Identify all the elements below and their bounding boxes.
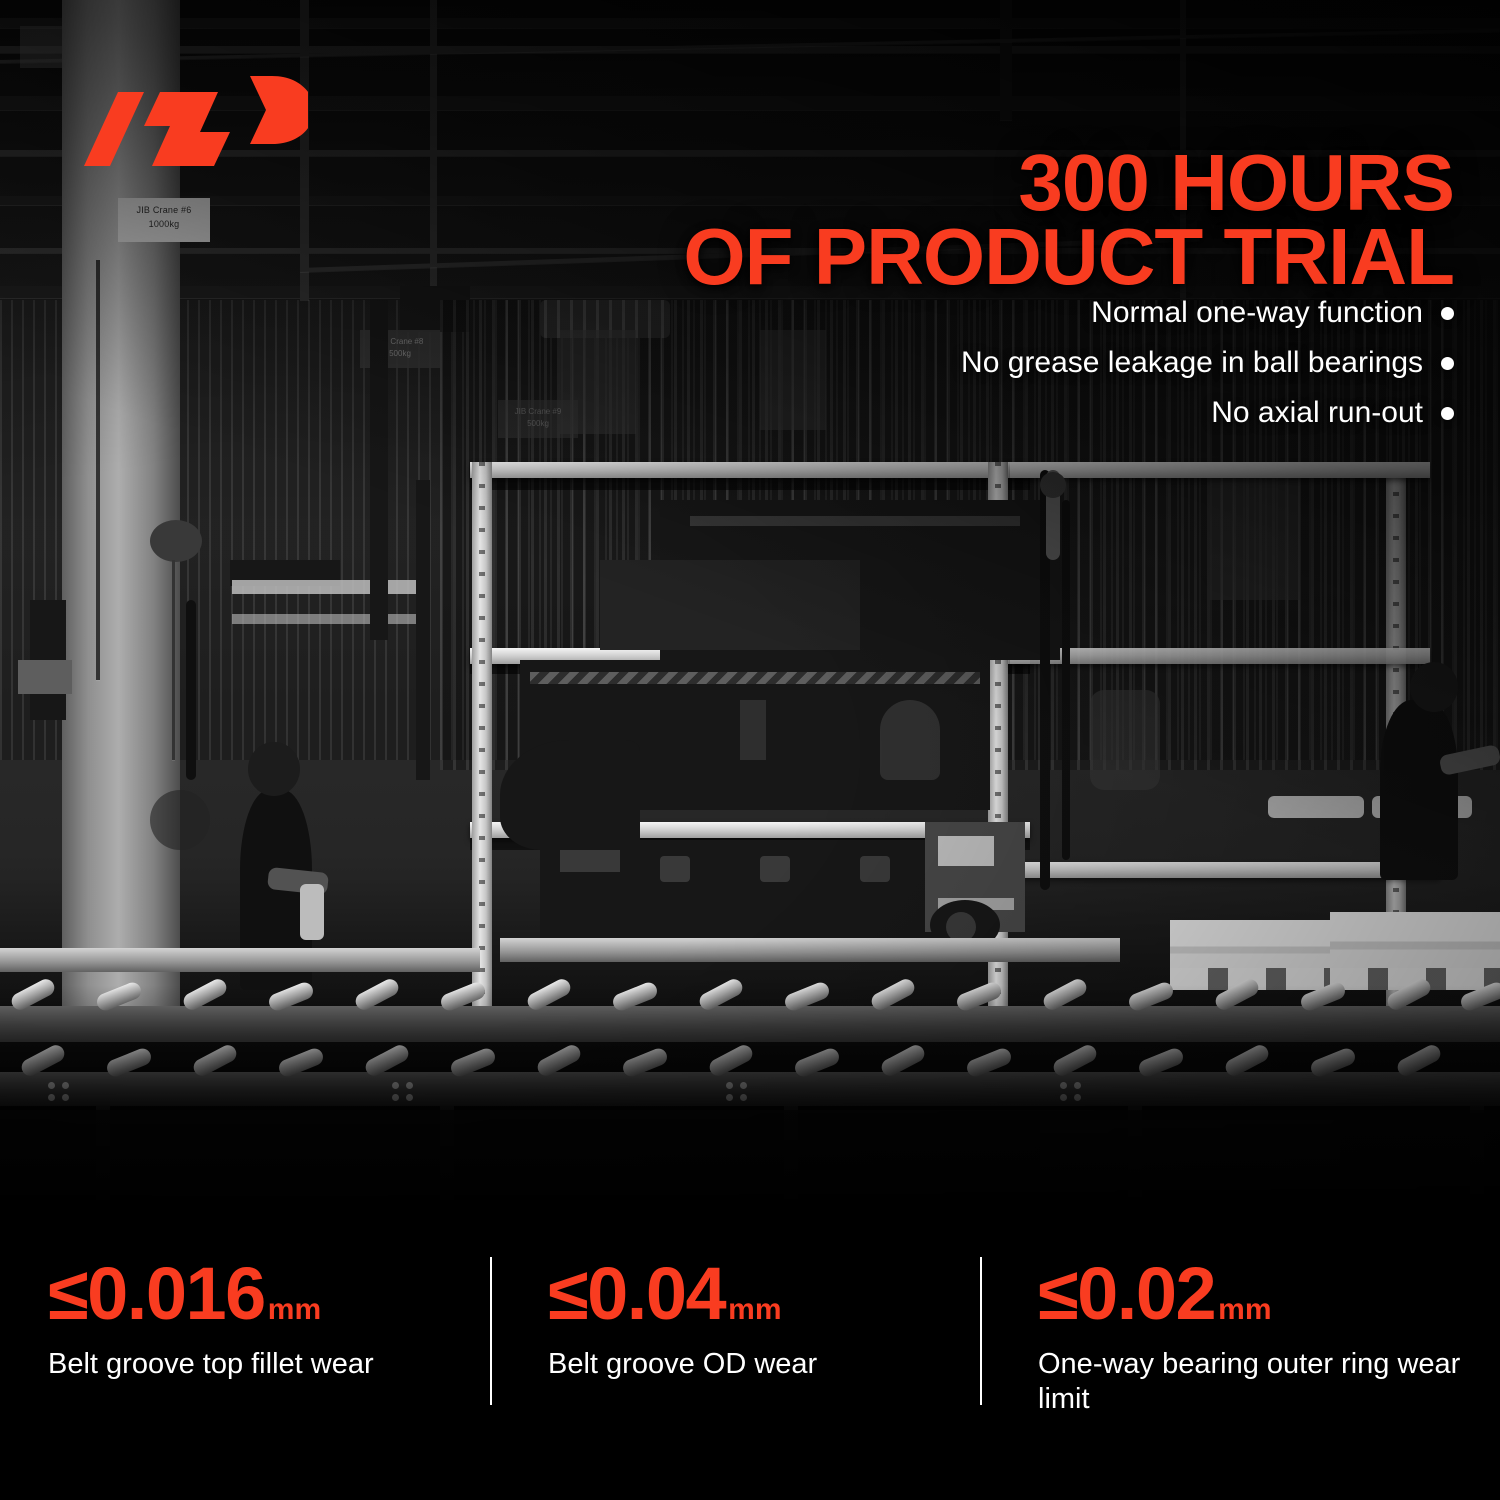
stat-block-1: ≤0.016mm Belt groove top fillet wear — [0, 1215, 490, 1500]
stat-divider — [490, 1257, 492, 1405]
brand-logo[interactable] — [78, 58, 308, 170]
bullet-label: No axial run-out — [1211, 396, 1423, 430]
stat-unit: mm — [268, 1293, 321, 1326]
stat-label: One-way bearing outer ring wear limit — [1038, 1347, 1468, 1418]
stat-label: Belt groove top fillet wear — [48, 1347, 478, 1382]
stat-divider — [980, 1257, 982, 1405]
stat-value-wrap: ≤0.016mm — [48, 1257, 490, 1331]
page-title: 300 HOURS OF PRODUCT TRIAL — [683, 146, 1454, 293]
stats-bar: ≤0.016mm Belt groove top fillet wear ≤0.… — [0, 1215, 1500, 1500]
photo-bottom-fade — [0, 985, 1500, 1215]
stat-label: Belt groove OD wear — [548, 1347, 978, 1382]
list-item: No axial run-out — [961, 396, 1454, 430]
bullet-dot-icon — [1441, 307, 1454, 320]
hd-monogram-icon — [78, 58, 308, 170]
list-item: Normal one-way function — [961, 296, 1454, 330]
bullet-label: No grease leakage in ball bearings — [961, 346, 1423, 380]
headline-line-1: 300 HOURS — [683, 146, 1454, 220]
stat-block-3: ≤0.02mm One-way bearing outer ring wear … — [980, 1215, 1500, 1500]
stat-block-2: ≤0.04mm Belt groove OD wear — [490, 1215, 980, 1500]
stat-value-wrap: ≤0.04mm — [548, 1257, 980, 1331]
stat-value: ≤0.02 — [1038, 1252, 1215, 1335]
bullet-dot-icon — [1441, 357, 1454, 370]
list-item: No grease leakage in ball bearings — [961, 346, 1454, 380]
headline-line-2: OF PRODUCT TRIAL — [683, 220, 1454, 294]
stat-unit: mm — [1218, 1293, 1271, 1326]
bullet-label: Normal one-way function — [1091, 296, 1423, 330]
feature-list: Normal one-way function No grease leakag… — [961, 296, 1454, 446]
product-trial-poster: JIB Crane #6 1000kg JIB Crane #8 500kg J… — [0, 0, 1500, 1500]
stat-unit: mm — [728, 1293, 781, 1326]
stat-value: ≤0.04 — [548, 1252, 725, 1335]
bullet-dot-icon — [1441, 407, 1454, 420]
stat-value: ≤0.016 — [48, 1252, 265, 1335]
stat-value-wrap: ≤0.02mm — [1038, 1257, 1500, 1331]
